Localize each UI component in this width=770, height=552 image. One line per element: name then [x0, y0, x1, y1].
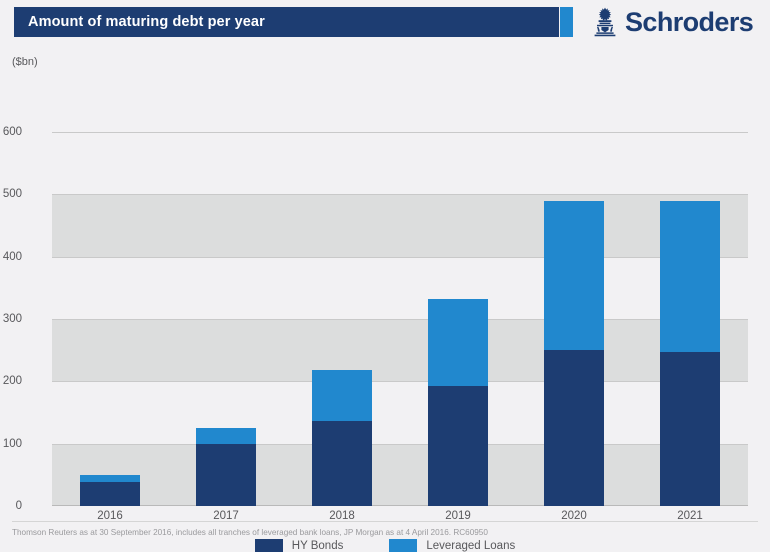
bar-segment-hy-bonds[interactable]: [544, 350, 604, 506]
chart-container: ($bn) 600 500 400 300 200 100 0: [0, 44, 770, 499]
bar-slot-2021: [632, 132, 748, 506]
bar-slot-2019: [400, 132, 516, 506]
legend-item-hy-bonds[interactable]: HY Bonds: [255, 539, 344, 552]
bar-segment-leveraged-loans[interactable]: [660, 201, 720, 352]
stacked-bar[interactable]: [196, 428, 256, 506]
y-axis-tick-500: 500: [0, 188, 22, 200]
source-note: Thomson Reuters as at 30 September 2016,…: [12, 528, 762, 537]
legend-label-leveraged-loans: Leveraged Loans: [426, 540, 515, 552]
brand-logo: Schroders: [592, 5, 753, 39]
bar-segment-leveraged-loans[interactable]: [544, 201, 604, 351]
y-axis-tick-200: 200: [0, 375, 22, 387]
schroders-crest-icon: [592, 7, 618, 37]
y-axis-tick-100: 100: [0, 438, 22, 450]
brand-name: Schroders: [625, 9, 753, 36]
stacked-bar[interactable]: [428, 299, 488, 506]
bar-segment-leveraged-loans[interactable]: [80, 475, 140, 482]
footer-divider: [12, 521, 758, 522]
bar-segment-hy-bonds[interactable]: [196, 444, 256, 506]
bar-segment-hy-bonds[interactable]: [428, 386, 488, 506]
y-axis-tick-300: 300: [0, 313, 22, 325]
bar-slot-2017: [168, 132, 284, 506]
bar-slot-2020: [516, 132, 632, 506]
y-axis-tick-400: 400: [0, 251, 22, 263]
bar-segment-hy-bonds[interactable]: [312, 421, 372, 506]
stacked-bar[interactable]: [312, 370, 372, 506]
legend-item-leveraged-loans[interactable]: Leveraged Loans: [389, 539, 515, 552]
bar-segment-hy-bonds[interactable]: [80, 482, 140, 506]
page-header: Amount of maturing debt per year Schrode…: [0, 0, 770, 44]
bar-segment-leveraged-loans[interactable]: [196, 428, 256, 444]
y-axis-tick-0: 0: [0, 500, 22, 512]
bar-slot-2018: [284, 132, 400, 506]
chart-legend: HY Bonds Leveraged Loans: [0, 539, 770, 552]
header-accent-block: [560, 7, 573, 37]
y-axis-unit-label: ($bn): [12, 56, 38, 68]
legend-label-hy-bonds: HY Bonds: [292, 540, 344, 552]
bar-group: [52, 132, 748, 506]
stacked-bar[interactable]: [80, 475, 140, 506]
title-bar: Amount of maturing debt per year: [14, 7, 559, 37]
bar-segment-leveraged-loans[interactable]: [312, 370, 372, 421]
y-axis-tick-600: 600: [0, 126, 22, 138]
stacked-bar[interactable]: [544, 201, 604, 506]
bar-segment-hy-bonds[interactable]: [660, 352, 720, 506]
legend-swatch-leveraged-loans: [389, 539, 417, 552]
bar-slot-2016: [52, 132, 168, 506]
bar-segment-leveraged-loans[interactable]: [428, 299, 488, 386]
legend-swatch-hy-bonds: [255, 539, 283, 552]
stacked-bar[interactable]: [660, 201, 720, 506]
page-title: Amount of maturing debt per year: [14, 14, 265, 30]
